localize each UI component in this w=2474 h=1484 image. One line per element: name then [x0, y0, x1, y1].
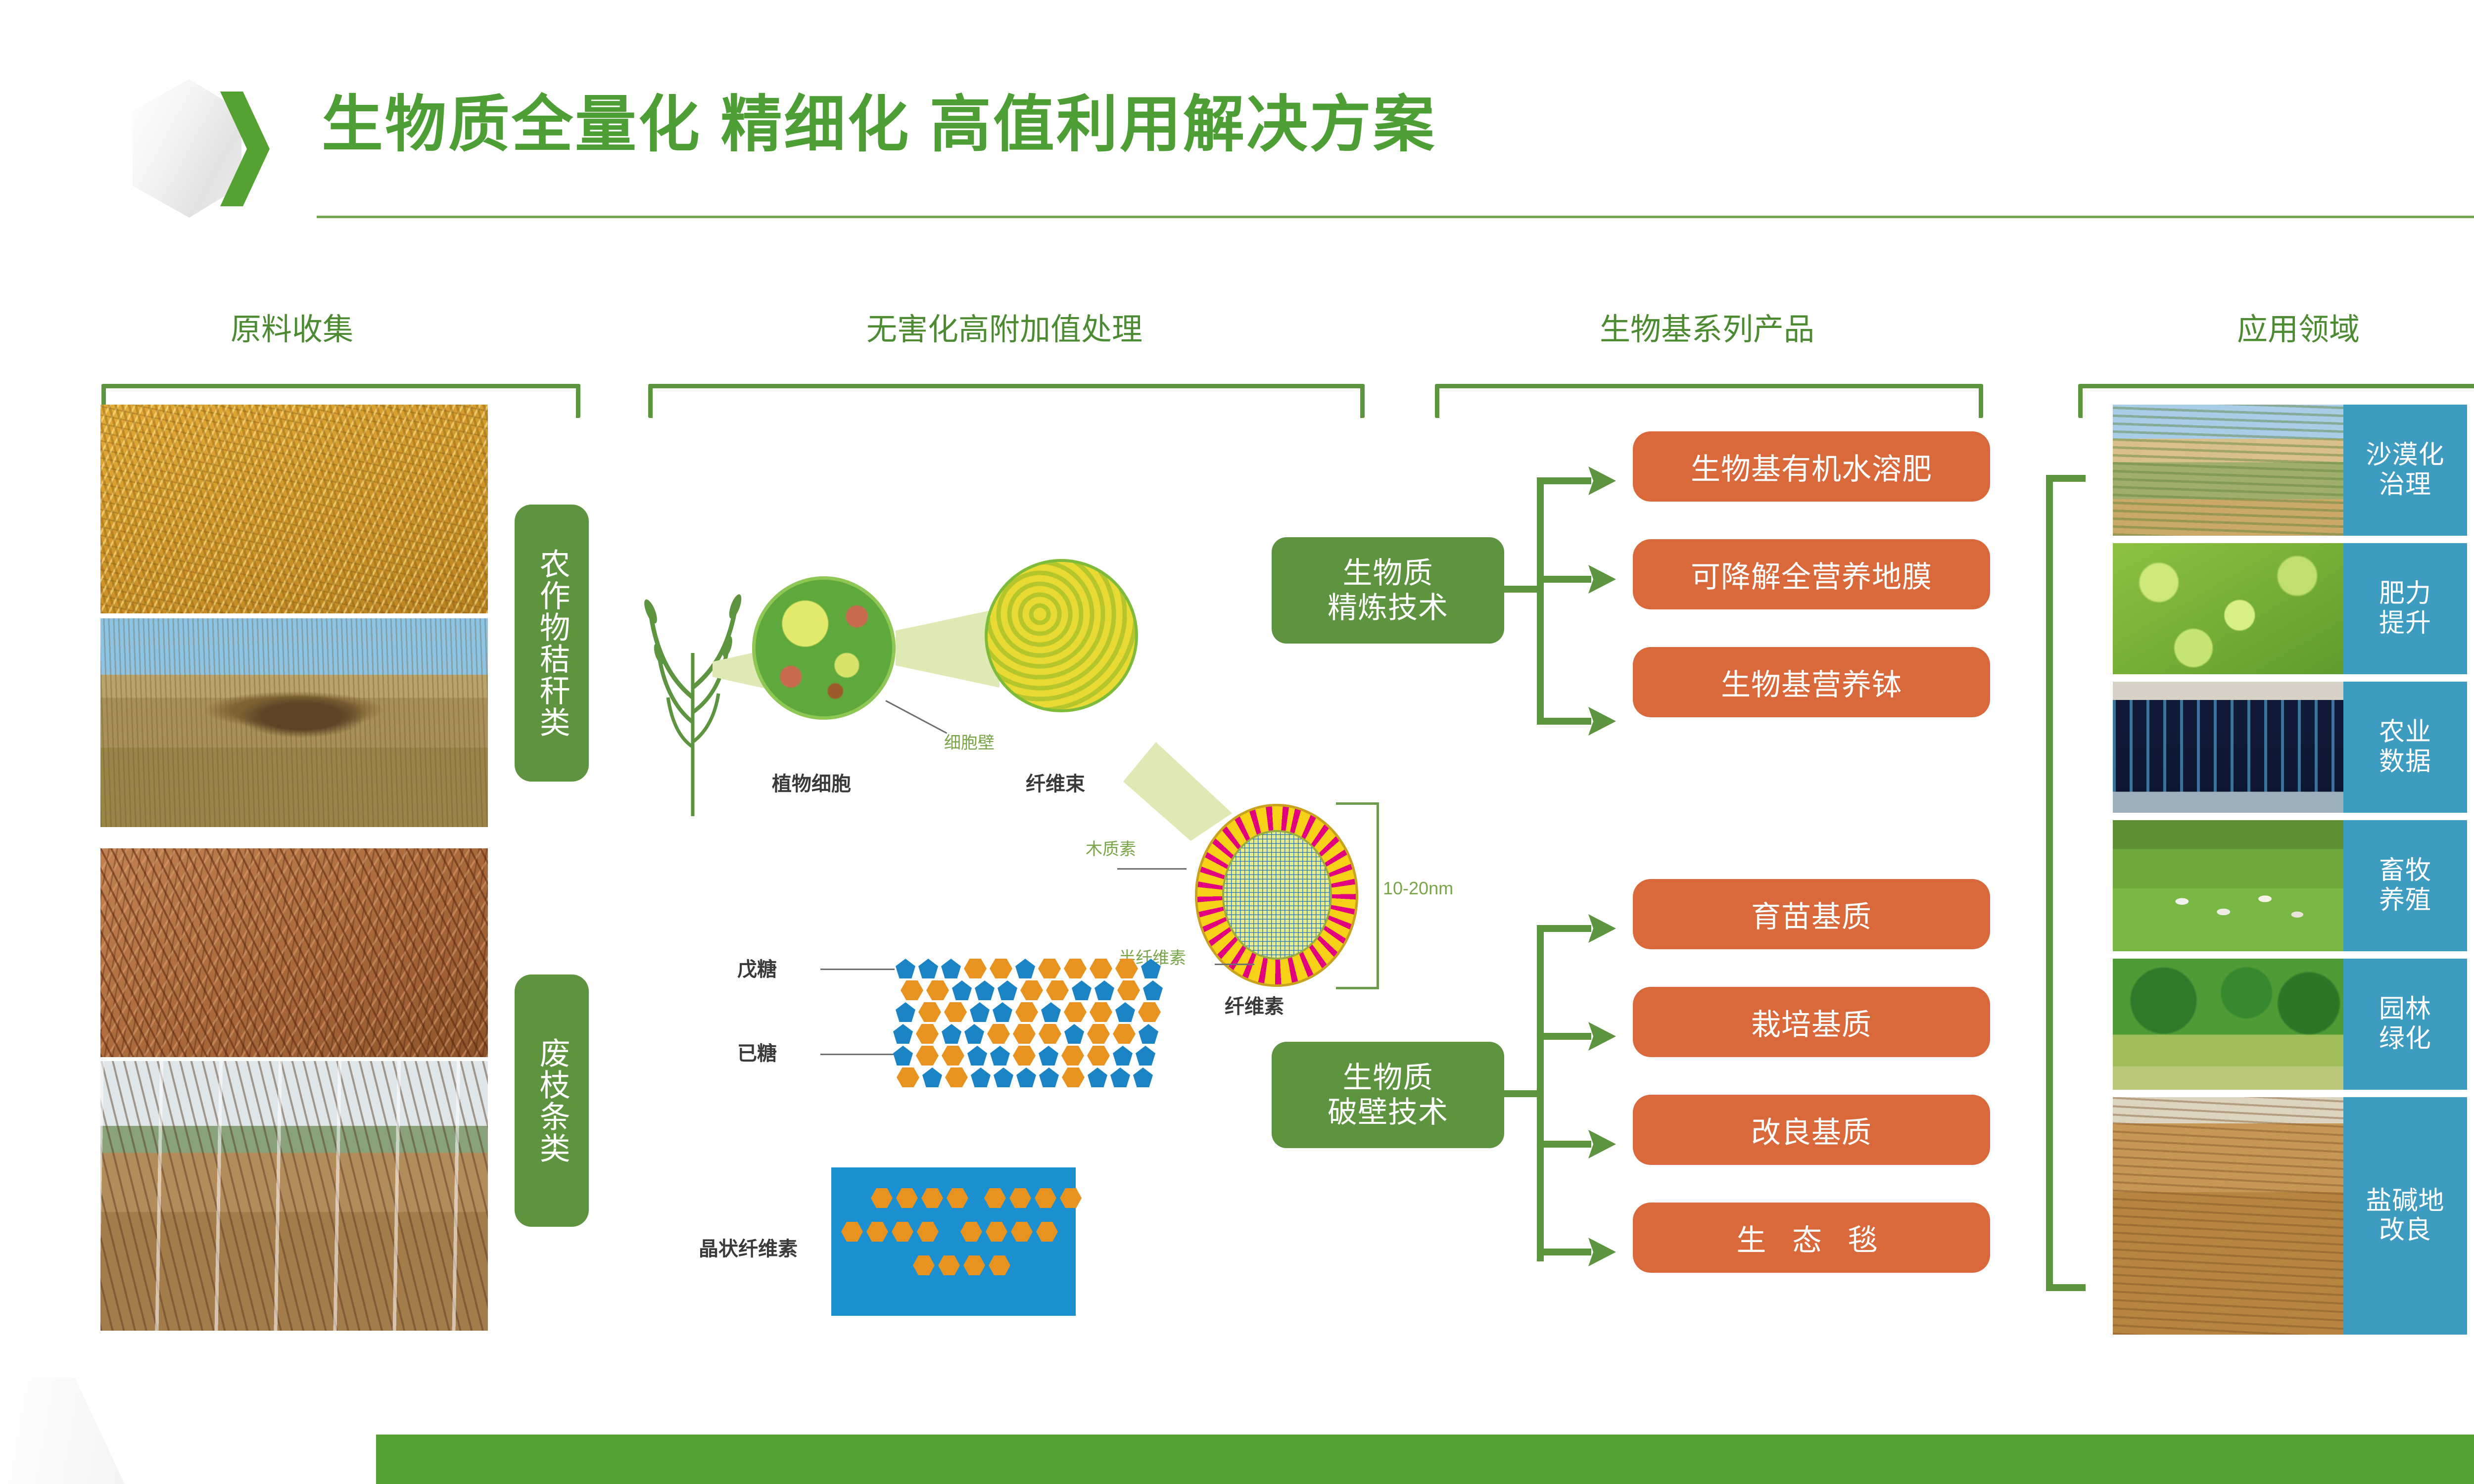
application-image-saline-soil — [2113, 1097, 2343, 1335]
application-row-landscaping[interactable]: 园林 绿化 — [2113, 959, 2467, 1090]
leader-line-lignin — [1117, 868, 1187, 870]
leader-line-hexose — [820, 1054, 895, 1055]
application-label-line2: 绿化 — [2379, 1024, 2431, 1054]
sugar-chain-row — [896, 1002, 1161, 1022]
product-pill-ecological-blanket[interactable]: 生 态 毯 — [1633, 1203, 1990, 1273]
application-label-line2: 数据 — [2379, 747, 2431, 777]
fiber-bundle-illustration — [985, 559, 1138, 712]
application-label-line1: 沙漠化 — [2366, 441, 2444, 470]
application-tag-landscaping: 园林 绿化 — [2343, 959, 2467, 1090]
application-image-data-center — [2113, 682, 2343, 813]
grass-plant-icon — [628, 549, 757, 816]
application-label-line1: 园林 — [2379, 995, 2431, 1024]
arrowhead-refining-1 — [1588, 466, 1616, 495]
arrowhead-wall-1 — [1588, 914, 1616, 943]
application-tag-soil-fertility: 肥力 提升 — [2343, 543, 2467, 674]
diagram-label-hexose: 已糖 — [737, 1044, 777, 1064]
application-row-saline-soil[interactable]: 盐碱地 改良 — [2113, 1097, 2467, 1335]
application-row-agriculture-data[interactable]: 农业 数据 — [2113, 682, 2467, 813]
product-pill-degradable-mulch-film[interactable]: 可降解全营养地膜 — [1633, 539, 1990, 609]
sugar-chain-row — [896, 959, 1161, 978]
crystal-chain-row — [913, 1255, 1010, 1275]
technology-refining-line2: 精炼技术 — [1328, 591, 1448, 625]
feedstock-photo-straw-bale — [100, 618, 488, 827]
connector-spine-wallbreaking — [1537, 925, 1544, 1261]
application-tag-livestock: 畜牧 养殖 — [2343, 820, 2467, 951]
bracket-products — [1435, 384, 1983, 418]
connector-branch-wall-4 — [1537, 1249, 1591, 1255]
plant-cell-illustration — [752, 576, 896, 720]
connector-branch-wall-3 — [1537, 1141, 1591, 1148]
footer-angled-shape — [0, 1378, 416, 1484]
page-title: 生物质全量化 精细化 高值利用解决方案 — [322, 94, 1436, 155]
section-label-applications: 应用领域 — [2120, 315, 2474, 345]
application-label-line1: 畜牧 — [2379, 856, 2431, 885]
arrowhead-wall-3 — [1588, 1130, 1616, 1159]
sugar-chain-row — [901, 980, 1163, 1000]
zoom-beam-nanofiber — [1123, 742, 1232, 841]
dimension-line-vertical — [1377, 802, 1379, 989]
arrowhead-wall-4 — [1588, 1238, 1616, 1266]
diagram-label-pentose: 戊糖 — [737, 960, 777, 979]
connector-spine-refining — [1537, 477, 1544, 725]
leader-line-pentose — [820, 969, 895, 970]
application-row-soil-fertility[interactable]: 肥力 提升 — [2113, 543, 2467, 674]
zoom-beam-fiber — [896, 608, 999, 688]
sugar-chain-row — [893, 1046, 1155, 1066]
application-image-grazing-sheep — [2113, 820, 2343, 951]
technology-pill-wallbreaking[interactable]: 生物质 破壁技术 — [1272, 1042, 1504, 1148]
product-pill-improvement-substrate[interactable]: 改良基质 — [1633, 1095, 1990, 1165]
dimension-tick-top — [1336, 802, 1379, 805]
bracket-processing — [648, 384, 1365, 418]
product-pill-seedling-substrate[interactable]: 育苗基质 — [1633, 879, 1990, 949]
application-image-park-landscape — [2113, 959, 2343, 1090]
application-label-line1: 农业 — [2379, 718, 2431, 747]
feedstock-category-waste-branches[interactable]: 废枝条类 — [515, 974, 589, 1227]
application-label-line2: 提升 — [2379, 609, 2431, 638]
connector-branch-refining-2 — [1537, 576, 1591, 583]
diagram-label-fiber-bundle: 纤维束 — [1026, 774, 1085, 794]
diagram-label-plant-cell: 植物细胞 — [772, 774, 851, 794]
diagram-label-cell-wall: 细胞壁 — [944, 735, 995, 751]
section-label-processing: 无害化高附加值处理 — [737, 315, 1272, 345]
diagram-label-cellulose: 纤维素 — [1225, 997, 1284, 1017]
connector-branch-wall-2 — [1537, 1033, 1591, 1040]
sugar-chain-row — [893, 1024, 1158, 1044]
application-label-line1: 肥力 — [2379, 579, 2431, 608]
infographic-canvas: 生物质全量化 精细化 高值利用解决方案 原料收集 无害化高附加值处理 生物基系列… — [0, 0, 2474, 1484]
technology-refining-line1: 生物质 — [1343, 556, 1433, 591]
feedstock-photo-vineyard-pruning — [100, 1061, 488, 1331]
connector-branch-wall-1 — [1537, 925, 1591, 932]
feedstock-photo-corn-stover — [100, 405, 488, 613]
connector-branch-refining-1 — [1537, 477, 1591, 484]
arrowhead-wall-2 — [1588, 1022, 1616, 1051]
diagram-label-lignin: 木质素 — [1086, 841, 1136, 858]
crystal-chain-row — [871, 1188, 1082, 1208]
title-divider — [317, 216, 2474, 218]
technology-pill-refining[interactable]: 生物质 精炼技术 — [1272, 537, 1504, 644]
feedstock-photo-dry-branches — [100, 848, 488, 1057]
application-label-line1: 盐碱地 — [2366, 1187, 2444, 1216]
application-label-line2: 养殖 — [2379, 886, 2431, 915]
arrowhead-refining-3 — [1588, 707, 1616, 736]
diagram-label-crystalline-cellulose: 晶状纤维素 — [699, 1239, 798, 1259]
technology-wallbreaking-line1: 生物质 — [1343, 1061, 1433, 1095]
section-label-products: 生物基系列产品 — [1455, 315, 1959, 345]
footer-green-bar — [376, 1435, 2474, 1484]
product-pill-cultivation-substrate[interactable]: 栽培基质 — [1633, 987, 1990, 1057]
applications-bracket-top — [2046, 475, 2086, 482]
applications-bracket-bottom — [2046, 1284, 2086, 1291]
diagram-label-dimension: 10-20nm — [1383, 880, 1453, 897]
application-tag-desert-control: 沙漠化 治理 — [2343, 405, 2467, 536]
application-image-desert-control — [2113, 405, 2343, 536]
section-label-raw-material: 原料收集 — [188, 315, 396, 345]
application-row-desert-control[interactable]: 沙漠化 治理 — [2113, 405, 2467, 536]
application-row-livestock[interactable]: 畜牧 养殖 — [2113, 820, 2467, 951]
sugar-chain-row — [897, 1067, 1153, 1087]
connector-branch-refining-3 — [1537, 718, 1591, 725]
product-pill-water-soluble-fertilizer[interactable]: 生物基有机水溶肥 — [1633, 431, 1990, 502]
application-label-line2: 改良 — [2379, 1216, 2431, 1245]
leader-line-hemicellulose — [1215, 964, 1254, 965]
cellulose-core — [1222, 830, 1332, 960]
technology-wallbreaking-line2: 破壁技术 — [1328, 1095, 1448, 1130]
application-tag-agriculture-data: 农业 数据 — [2343, 682, 2467, 813]
crystal-chain-row — [841, 1222, 1058, 1242]
product-pill-nutrition-pot[interactable]: 生物基营养钵 — [1633, 647, 1990, 717]
leader-line-cell-wall — [885, 700, 947, 734]
feedstock-category-crop-straw[interactable]: 农作物秸秆类 — [515, 505, 589, 782]
arrowhead-refining-2 — [1588, 565, 1616, 594]
application-label-line2: 治理 — [2379, 470, 2431, 500]
application-tag-saline-soil: 盐碱地 改良 — [2343, 1097, 2467, 1335]
applications-bracket-spine — [2046, 475, 2053, 1291]
application-image-cabbage-field — [2113, 543, 2343, 674]
dimension-tick-bottom — [1336, 987, 1379, 989]
